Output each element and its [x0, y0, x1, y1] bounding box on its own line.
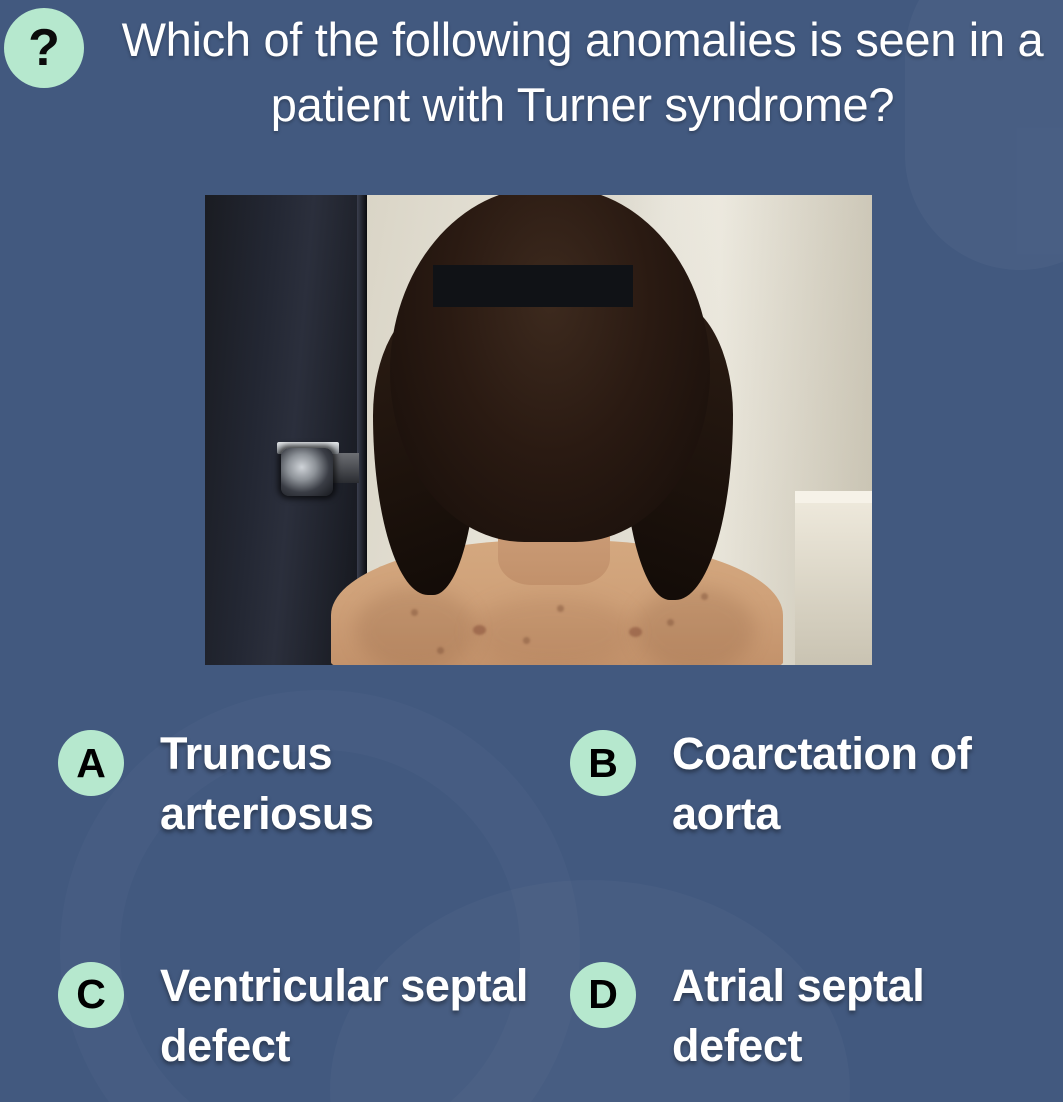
photo-freckle: [701, 593, 708, 600]
photo-freckle: [437, 647, 444, 654]
photo-chest-mark-left: [473, 625, 486, 635]
photo-wainscot: [795, 495, 872, 665]
question-mark-icon: ?: [4, 8, 84, 88]
option-c[interactable]: C Ventricular septal defect: [0, 956, 540, 1076]
photo-shoulder-shadow-right: [635, 587, 755, 665]
question-row: ? Which of the following anomalies is se…: [0, 8, 1063, 138]
photo-freckle: [411, 609, 418, 616]
option-a-badge: A: [58, 730, 124, 796]
option-c-label: Ventricular septal defect: [160, 956, 540, 1076]
option-c-badge: C: [58, 962, 124, 1028]
option-b[interactable]: B Coarctation of aorta: [540, 724, 1063, 844]
photo-freckle: [523, 637, 530, 644]
photo-door-strike-plate: [333, 453, 359, 483]
photo-chest-shadow: [473, 595, 633, 665]
photo-wainscot-top: [795, 491, 872, 503]
option-b-label: Coarctation of aorta: [672, 724, 1063, 844]
photo-censor-bar: [433, 265, 633, 307]
photo-freckle: [667, 619, 674, 626]
question-text: Which of the following anomalies is seen…: [106, 8, 1059, 138]
option-d-badge: D: [570, 962, 636, 1028]
options-row-1: A Truncus arteriosus B Coarctation of ao…: [0, 724, 1063, 844]
option-d[interactable]: D Atrial septal defect: [540, 956, 1063, 1076]
quiz-question-card: ? Which of the following anomalies is se…: [0, 0, 1063, 1102]
option-a[interactable]: A Truncus arteriosus: [0, 724, 540, 844]
option-a-label: Truncus arteriosus: [160, 724, 540, 844]
options-grid: A Truncus arteriosus B Coarctation of ao…: [0, 724, 1063, 1075]
options-row-2: C Ventricular septal defect D Atrial sep…: [0, 956, 1063, 1076]
photo-freckle: [557, 605, 564, 612]
option-b-badge: B: [570, 730, 636, 796]
clinical-photo: [205, 195, 872, 665]
photo-door-knob: [281, 448, 333, 496]
photo-chest-mark-right: [629, 627, 642, 637]
option-d-label: Atrial septal defect: [672, 956, 1063, 1076]
photo-hair: [390, 195, 710, 542]
photo-shoulder-shadow-left: [355, 587, 475, 665]
